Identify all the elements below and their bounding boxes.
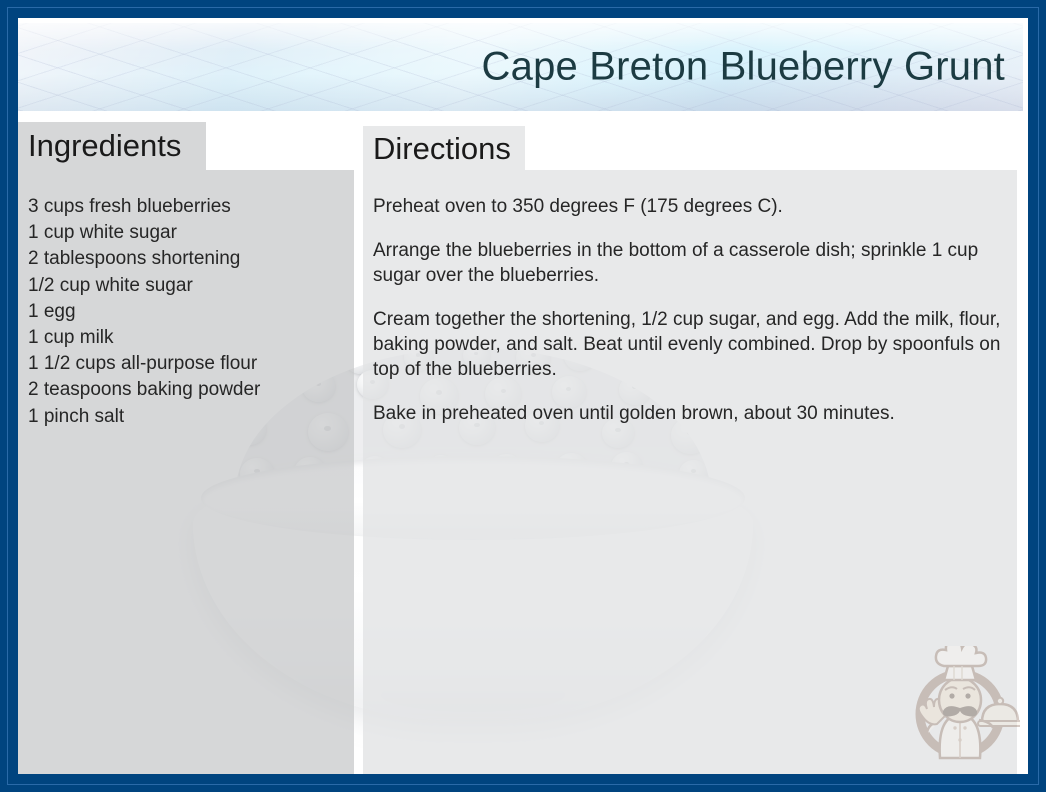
ingredients-heading: Ingredients xyxy=(28,128,181,164)
direction-step: Arrange the blueberries in the bottom of… xyxy=(373,238,1013,288)
ingredient-item: 1 1/2 cups all-purpose flour xyxy=(28,351,348,377)
direction-step: Preheat oven to 350 degrees F (175 degre… xyxy=(373,194,1013,219)
page-title: Cape Breton Blueberry Grunt xyxy=(482,45,1005,90)
direction-step: Cream together the shortening, 1/2 cup s… xyxy=(373,307,1013,382)
ingredient-item: 1 cup white sugar xyxy=(28,220,348,246)
recipe-slide: Cape Breton Blueberry Grunt Ingredients … xyxy=(0,0,1046,792)
direction-step: Bake in preheated oven until golden brow… xyxy=(373,401,1013,426)
ingredient-item: 3 cups fresh blueberries xyxy=(28,194,348,220)
ingredient-item: 1/2 cup white sugar xyxy=(28,273,348,299)
directions-list: Preheat oven to 350 degrees F (175 degre… xyxy=(373,194,1013,445)
ingredients-list: 3 cups fresh blueberries1 cup white suga… xyxy=(28,194,348,430)
chef-logo xyxy=(900,646,1020,766)
slide-canvas: Cape Breton Blueberry Grunt Ingredients … xyxy=(18,18,1028,774)
ingredient-item: 1 egg xyxy=(28,299,348,325)
title-banner: Cape Breton Blueberry Grunt xyxy=(18,23,1023,111)
ingredient-item: 1 cup milk xyxy=(28,325,348,351)
ingredient-item: 2 teaspoons baking powder xyxy=(28,377,348,403)
ingredient-item: 2 tablespoons shortening xyxy=(28,246,348,272)
directions-heading: Directions xyxy=(373,131,511,167)
ingredient-item: 1 pinch salt xyxy=(28,404,348,430)
